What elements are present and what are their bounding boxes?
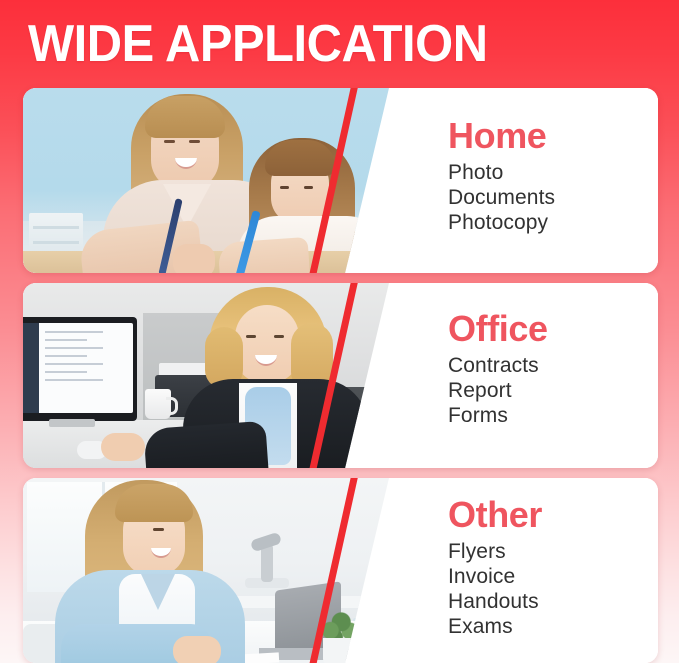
page-title: WIDE APPLICATION [28,13,488,75]
list-item: Report [448,378,658,403]
card-inner: Office Contracts Report Forms [23,283,658,468]
application-card-office: Office Contracts Report Forms [23,283,658,468]
list-item: Flyers [448,539,658,564]
card-inner: Home Photo Documents Photocopy [23,88,658,273]
card-heading: Office [448,283,658,349]
woman-hair-top [115,484,193,522]
mother-hair-top [145,96,225,138]
plant-pot [323,638,353,663]
microscope-arm [261,544,273,582]
list-item: Forms [448,403,658,428]
list-item: Photocopy [448,210,658,235]
beaker [353,618,373,648]
woman-eye [153,528,164,531]
mother-eye-left [164,140,175,143]
wide-application-poster: WIDE APPLICATION [0,0,679,663]
text-panel-home: Home Photo Documents Photocopy [389,88,658,273]
woman-hand [101,433,145,461]
girl-hair-top [265,140,335,176]
card-heading: Home [448,88,658,156]
text-panel-office: Office Contracts Report Forms [389,283,658,468]
mother-eye-right [189,140,200,143]
woman-hands [173,636,221,663]
mother-hand [173,244,215,273]
girl-arm [218,237,311,273]
monitor-app-sidebar [23,323,39,413]
list-item: Exams [448,614,658,639]
girl-eye-right [304,186,313,189]
application-card-home: Home Photo Documents Photocopy [23,88,658,273]
card-item-list: Photo Documents Photocopy [448,156,658,235]
list-item: Photo [448,160,658,185]
card-inner: Other Flyers Invoice Handouts Exams [23,478,658,663]
list-item: Contracts [448,353,658,378]
card-item-list: Flyers Invoice Handouts Exams [448,535,658,639]
coffee-mug [145,389,171,419]
woman-eye-right [274,335,284,338]
woman-face [235,305,299,383]
monitor-stand [49,419,95,427]
monitor-text-lines [45,331,125,405]
text-panel-other: Other Flyers Invoice Handouts Exams [389,478,658,663]
list-item: Invoice [448,564,658,589]
card-heading: Other [448,478,658,535]
application-card-other: Other Flyers Invoice Handouts Exams [23,478,658,663]
girl-eye-left [280,186,289,189]
card-item-list: Contracts Report Forms [448,349,658,428]
woman-eye-left [246,335,256,338]
list-item: Handouts [448,589,658,614]
woman-arm [143,421,268,468]
list-item: Documents [448,185,658,210]
